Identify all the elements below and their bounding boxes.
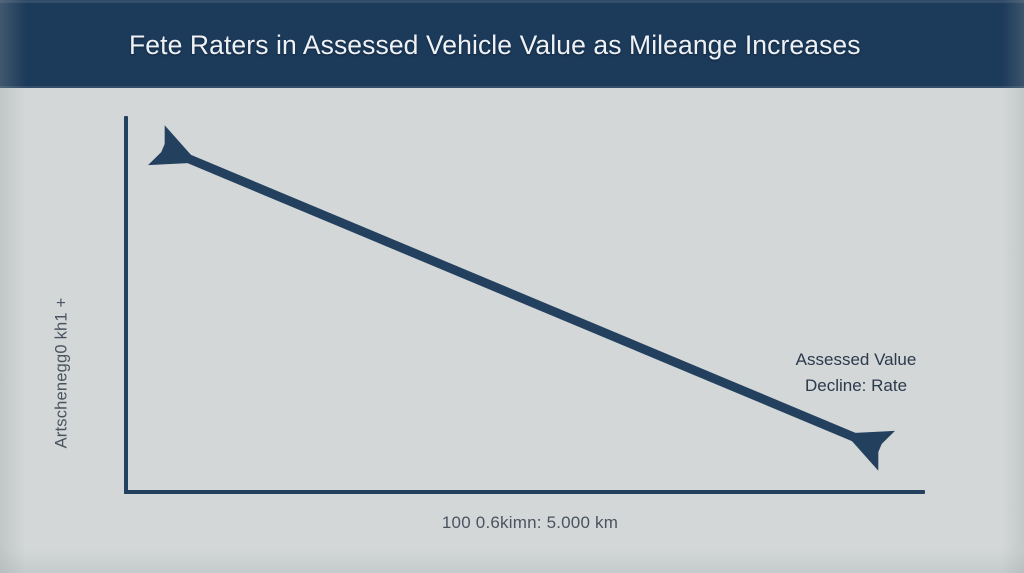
annotation-line-1: Assessed Value <box>796 347 917 373</box>
plot-area: Artschenegg0 kh1 + 100 0.6kimn: 5.000 km… <box>0 88 1024 573</box>
page-title: Fete Raters in Assessed Vehicle Value as… <box>129 30 861 61</box>
chart-figure: Fete Raters in Assessed Vehicle Value as… <box>0 0 1024 573</box>
trend-arrow <box>0 88 1024 573</box>
trend-arrow-line <box>163 148 880 448</box>
chart-header-band: Fete Raters in Assessed Vehicle Value as… <box>0 0 1024 88</box>
y-axis-label: Artschenegg0 kh1 + <box>53 298 72 449</box>
x-axis-label: 100 0.6kimn: 5.000 km <box>442 513 618 533</box>
annotation-line-2: Decline: Rate <box>796 373 917 399</box>
series-annotation: Assessed Value Decline: Rate <box>796 347 917 399</box>
